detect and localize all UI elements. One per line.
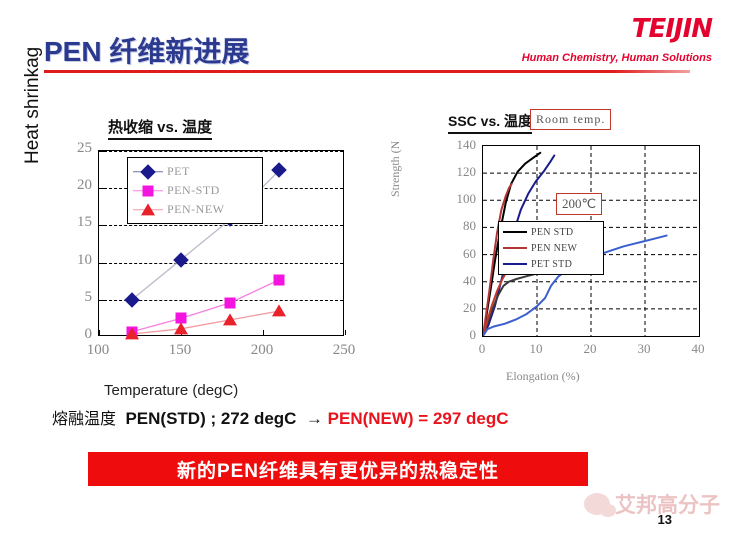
axis-tick-label-y: 5 [72, 289, 92, 306]
legend-label-pet-std: PET STD [531, 259, 572, 270]
axis-tick-label-x: 250 [328, 342, 360, 359]
chart-right-legend: PEN STD PEN NEW PET STD [498, 221, 604, 275]
chart-right-y-axis-label: Strength (N [388, 141, 403, 197]
annotation-room-temp: Room temp. [530, 109, 611, 130]
axis-tick-label-x: 0 [468, 341, 496, 357]
axis-tick-label-x: 30 [630, 341, 658, 357]
series-line-pen-new [132, 311, 280, 334]
legend-line-pet-std [503, 263, 527, 265]
legend-item-pen-new: PEN NEW [503, 240, 599, 256]
chart-right-x-axis-label: Elongation (%) [506, 369, 580, 384]
melting-point-std: PEN(STD) ; 272 degC [125, 409, 296, 428]
title-underline-rule [44, 70, 690, 73]
legend-line-pen-new [503, 247, 527, 249]
chart-left-legend: PET PEN-STD PEN-NEW [127, 157, 263, 224]
teijin-logo: TEIJIN [632, 14, 712, 44]
data-point-pen-new [174, 322, 188, 334]
melting-point-new: PEN(NEW) = 297 degC [328, 409, 509, 428]
axis-tick-label-y: 40 [448, 273, 476, 289]
chart-left-title: 热收缩 vs. 温度 [108, 116, 212, 140]
legend-line-pen-std [503, 231, 527, 233]
axis-tick-label-x: 200 [246, 342, 278, 359]
data-point-pen-new [223, 313, 237, 325]
legend-marker-square [143, 185, 154, 196]
conclusion-banner: 新的PEN纤维具有更优异的热稳定性 [88, 452, 588, 486]
chart-ssc: SSC vs. 温度 Strength (N Elongation (%) Ro… [378, 105, 728, 405]
chart-heat-shrinkage: 热收缩 vs. 温度 Heat shrinkag Temperature (de… [38, 108, 378, 408]
axis-tick-label-y: 20 [448, 300, 476, 316]
chart-left-x-axis-label: Temperature (degC) [104, 382, 238, 399]
chart-left-plot-area: PET PEN-STD PEN-NEW [98, 150, 344, 336]
legend-label-pen-new: PEN-NEW [167, 202, 225, 217]
axis-tick-label-y: 120 [448, 164, 476, 180]
watermark: 艾邦高分子 [584, 489, 720, 519]
page-title-latin: PEN [44, 36, 109, 67]
legend-item-pen-std: PEN STD [503, 224, 599, 240]
chart-right-title: SSC vs. 温度 [448, 111, 532, 134]
axis-tick-label-x: 20 [576, 341, 604, 357]
axis-tick-label-y: 10 [72, 252, 92, 269]
axis-tick-label-y: 60 [448, 246, 476, 262]
melting-point-label: 熔融温度 [52, 411, 116, 428]
axis-tick-label-y: 25 [72, 140, 92, 157]
legend-item-pet: PET [133, 162, 257, 181]
legend-marker-diamond [140, 164, 156, 180]
legend-item-pen-std: PEN-STD [133, 181, 257, 200]
data-point-pen-new [125, 327, 139, 339]
slide-header: PEN 纤维新进展 TEIJIN Human Chemistry, Human … [0, 0, 734, 82]
wechat-icon [584, 493, 610, 515]
tick-x [345, 330, 346, 335]
annotation-200c: 200℃ [556, 193, 602, 215]
legend-label-pen-std: PEN-STD [167, 183, 220, 198]
page-title-cjk: 纤维新进展 [109, 36, 249, 67]
arrow-icon: → [306, 409, 323, 428]
legend-item-pen-new: PEN-NEW [133, 200, 257, 219]
axis-tick-label-y: 100 [448, 191, 476, 207]
axis-tick-label-y: 140 [448, 137, 476, 153]
legend-marker-triangle [141, 203, 155, 215]
page-number: 13 [658, 512, 672, 527]
legend-label-pet: PET [167, 164, 190, 179]
legend-label-pen-std: PEN STD [531, 227, 573, 238]
melting-point-line: 熔融温度 PEN(STD) ; 272 degC → PEN(NEW) = 29… [52, 405, 509, 429]
axis-tick-label-x: 10 [522, 341, 550, 357]
axis-tick-label-x: 100 [82, 342, 114, 359]
axis-tick-label-y: 80 [448, 218, 476, 234]
legend-item-pet-std: PET STD [503, 256, 599, 272]
legend-label-pen-new: PEN NEW [531, 243, 577, 254]
axis-tick-label-y: 0 [72, 326, 92, 343]
chart-left-y-axis-label: Heat shrinkag [22, 47, 44, 164]
brand-tagline: Human Chemistry, Human Solutions [522, 52, 712, 64]
page-title: PEN 纤维新进展 [44, 30, 249, 70]
axis-tick-label-y: 20 [72, 177, 92, 194]
data-point-pen-std [274, 274, 285, 285]
axis-tick-label-y: 15 [72, 214, 92, 231]
axis-tick-label-x: 150 [164, 342, 196, 359]
data-point-pen-new [272, 304, 286, 316]
data-point-pen-std [225, 297, 236, 308]
conclusion-banner-text: 新的PEN纤维具有更优异的热稳定性 [177, 456, 499, 483]
axis-tick-label-x: 40 [684, 341, 712, 357]
